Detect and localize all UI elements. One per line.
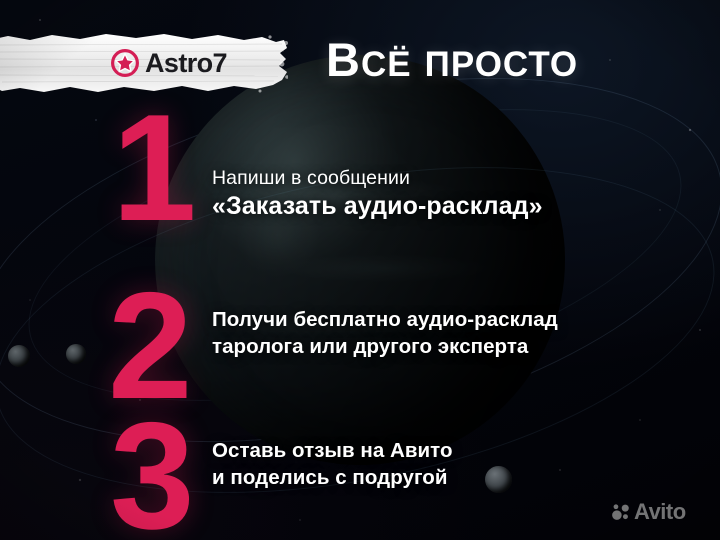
page-title: ВСЁПРОСТО [326, 36, 578, 83]
dark-planet [155, 55, 565, 465]
moon-small-left-second [66, 344, 86, 364]
moon-small-left [8, 345, 30, 367]
headline-word2: ПРОСТО [425, 45, 578, 84]
avito-watermark: Avito [611, 501, 686, 523]
avito-watermark-text: Avito [634, 501, 686, 523]
step-1-line-1: Напиши в сообщении [212, 166, 543, 191]
step-3-line-1: Оставь отзыв на Авито [212, 437, 453, 464]
step-number-3: 3 [110, 400, 191, 540]
moon-small-bottom-right [485, 466, 512, 493]
step-2-line-2: таролога или другого эксперта [212, 333, 558, 360]
avito-dots-icon [611, 503, 630, 522]
astro7-logo[interactable]: Astro7 [110, 48, 227, 78]
astro7-star-circle-icon [110, 48, 140, 78]
step-text-2: Получи бесплатно аудио-расклад таролога … [212, 306, 558, 360]
step-3-line-2: и поделись с подругой [212, 464, 453, 491]
headline-cap: В [326, 33, 361, 86]
step-text-3: Оставь отзыв на Авито и поделись с подру… [212, 437, 453, 491]
poster-canvas: Astro7 ВСЁПРОСТО 1 Напиши в сообщении «З… [0, 0, 720, 540]
step-number-1: 1 [112, 92, 193, 244]
astro7-logo-text: Astro7 [145, 50, 227, 77]
step-2-line-1: Получи бесплатно аудио-расклад [212, 306, 558, 333]
step-text-1: Напиши в сообщении «Заказать аудио-раскл… [212, 166, 543, 221]
step-1-line-2: «Заказать аудио-расклад» [212, 191, 543, 222]
headline-rest: СЁ [361, 45, 412, 84]
